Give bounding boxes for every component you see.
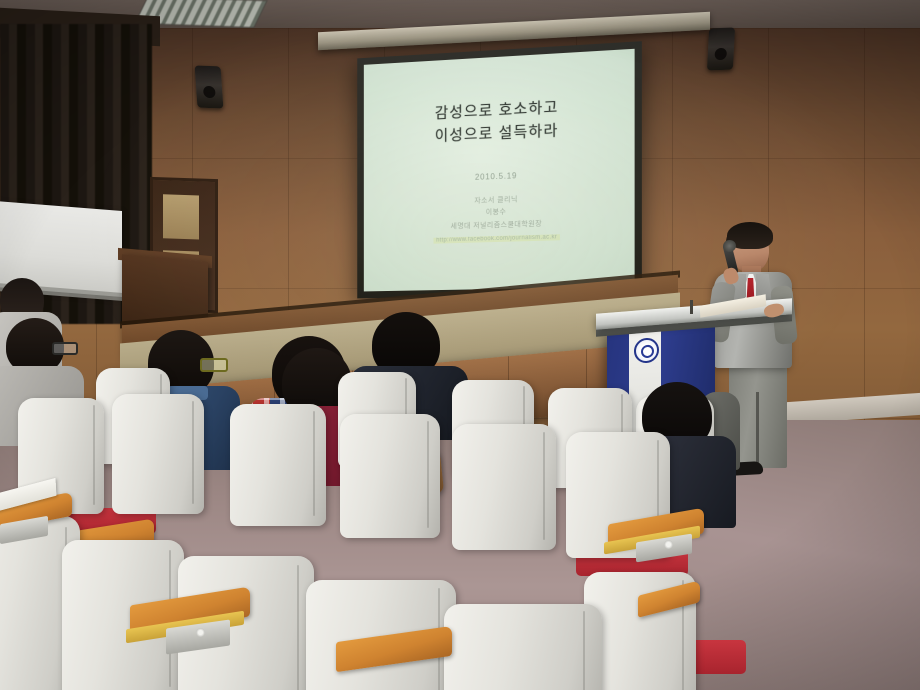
slide-byline: 자소서 클리닉 이봉수 세명대 저널리즘스쿨대학원장 <box>451 193 543 234</box>
chair-r2-c5[interactable] <box>452 424 556 550</box>
slide-hyperlink: http://www.facebook.com/journalism.ac.kr <box>433 235 560 244</box>
audience-glasses-a2-icon <box>52 342 78 355</box>
chair-r2-c2[interactable] <box>112 394 204 514</box>
audience-glasses-a3-icon <box>200 358 228 372</box>
speaker-leg-seam <box>756 392 759 468</box>
slide-title-line-2: 이성으로 설득하라 <box>435 119 559 148</box>
chair-r1-c5[interactable] <box>444 604 602 690</box>
chair-r2-c3[interactable] <box>230 404 326 526</box>
screen-surface: 감성으로 호소하고 이성으로 설득하라 2010.5.19 자소서 클리닉 이봉… <box>364 49 635 292</box>
slide-title: 감성으로 호소하고 이성으로 설득하라 <box>435 96 559 148</box>
chair-r2-c4[interactable] <box>340 414 440 538</box>
presentation-slide: 감성으로 호소하고 이성으로 설득하라 2010.5.19 자소서 클리닉 이봉… <box>364 49 635 292</box>
lecture-hall-photo: 감성으로 호소하고 이성으로 설득하라 2010.5.19 자소서 클리닉 이봉… <box>0 0 920 690</box>
tablet-bolt-r1-b <box>196 628 205 637</box>
tablet-bolt-r2-b <box>664 540 673 549</box>
door-glass-upper <box>163 194 199 239</box>
projection-screen: 감성으로 호소하고 이성으로 설득하라 2010.5.19 자소서 클리닉 이봉… <box>357 41 642 298</box>
wall-speaker-left-icon <box>195 65 224 108</box>
wall-speaker-right-icon <box>707 27 735 70</box>
podium-microphone-stand <box>690 300 693 314</box>
slide-date: 2010.5.19 <box>475 171 517 182</box>
slide-byline-line-3: 세명대 저널리즘스쿨대학원장 <box>451 218 543 233</box>
